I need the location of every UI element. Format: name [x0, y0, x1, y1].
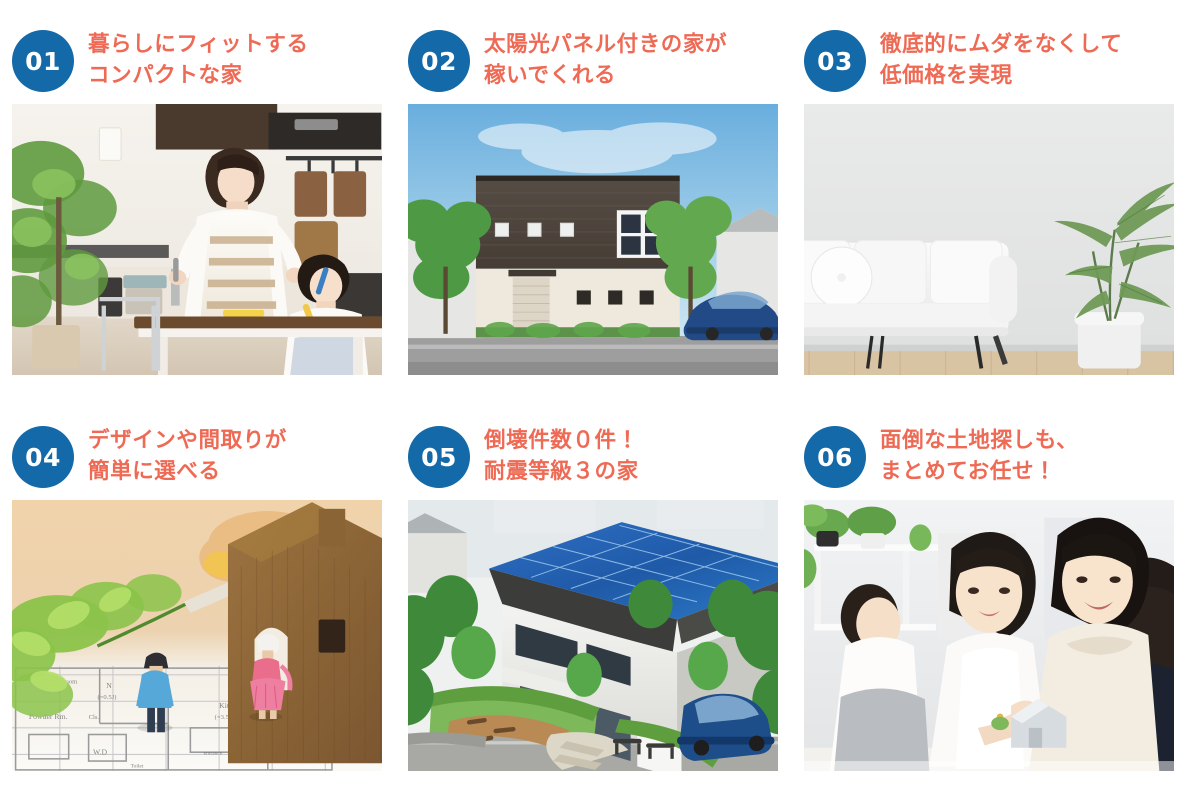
- feature-card-02[interactable]: 02 太陽光パネル付きの家が 稼いでくれる: [408, 18, 778, 375]
- feature-number-badge: 04: [12, 426, 74, 488]
- svg-text:(=0.5J): (=0.5J): [97, 694, 116, 701]
- svg-text:W.D: W.D: [93, 747, 108, 756]
- feature-number-badge: 06: [804, 426, 866, 488]
- kitchen-mother-and-child-photo: [12, 104, 382, 375]
- svg-text:N: N: [106, 681, 112, 690]
- feature-number-badge: 01: [12, 30, 74, 92]
- feature-card-03[interactable]: 03 徹底的にムダをなくして 低価格を実現: [804, 18, 1174, 375]
- feature-card-01[interactable]: 01 暮らしにフィットする コンパクトな家: [12, 18, 382, 375]
- feature-card-06[interactable]: 06 面倒な土地探しも、 まとめてお任せ！: [804, 414, 1174, 771]
- card-header: 05 倒壊件数０件！ 耐震等級３の家: [408, 414, 778, 500]
- svg-text:Toilet: Toilet: [131, 764, 144, 770]
- modern-house-exterior-photo: [408, 104, 778, 375]
- card-header: 02 太陽光パネル付きの家が 稼いでくれる: [408, 18, 778, 104]
- feature-number-badge: 03: [804, 30, 866, 92]
- white-living-room-photo: [804, 104, 1174, 375]
- card-header: 03 徹底的にムダをなくして 低価格を実現: [804, 18, 1174, 104]
- floor-plan-house-model-photo: Bed Room N (=0.5J) Cls. Powder Rm. Kitch…: [12, 500, 382, 771]
- feature-number-badge: 05: [408, 426, 470, 488]
- feature-title: 倒壊件数０件！ 耐震等級３の家: [484, 426, 639, 487]
- feature-number-badge: 02: [408, 30, 470, 92]
- features-grid: 01 暮らしにフィットする コンパクトな家: [0, 0, 1186, 791]
- feature-card-05[interactable]: 05 倒壊件数０件！ 耐震等級３の家: [408, 414, 778, 771]
- feature-title: 徹底的にムダをなくして 低価格を実現: [880, 30, 1122, 91]
- card-header: 01 暮らしにフィットする コンパクトな家: [12, 18, 382, 104]
- feature-title: デザインや間取りが 簡単に選べる: [88, 426, 287, 487]
- solar-panel-house-aerial-photo: [408, 500, 778, 771]
- svg-text:Cls.: Cls.: [89, 714, 100, 721]
- svg-text:entrance: entrance: [204, 750, 223, 756]
- feature-card-04[interactable]: 04 デザインや間取りが 簡単に選べる: [12, 414, 382, 771]
- feature-title: 太陽光パネル付きの家が 稼いでくれる: [484, 30, 727, 91]
- card-header: 06 面倒な土地探しも、 まとめてお任せ！: [804, 414, 1174, 500]
- family-consultation-photo: [804, 500, 1174, 771]
- card-header: 04 デザインや間取りが 簡単に選べる: [12, 414, 382, 500]
- feature-title: 面倒な土地探しも、 まとめてお任せ！: [880, 426, 1078, 487]
- feature-title: 暮らしにフィットする コンパクトな家: [88, 30, 309, 91]
